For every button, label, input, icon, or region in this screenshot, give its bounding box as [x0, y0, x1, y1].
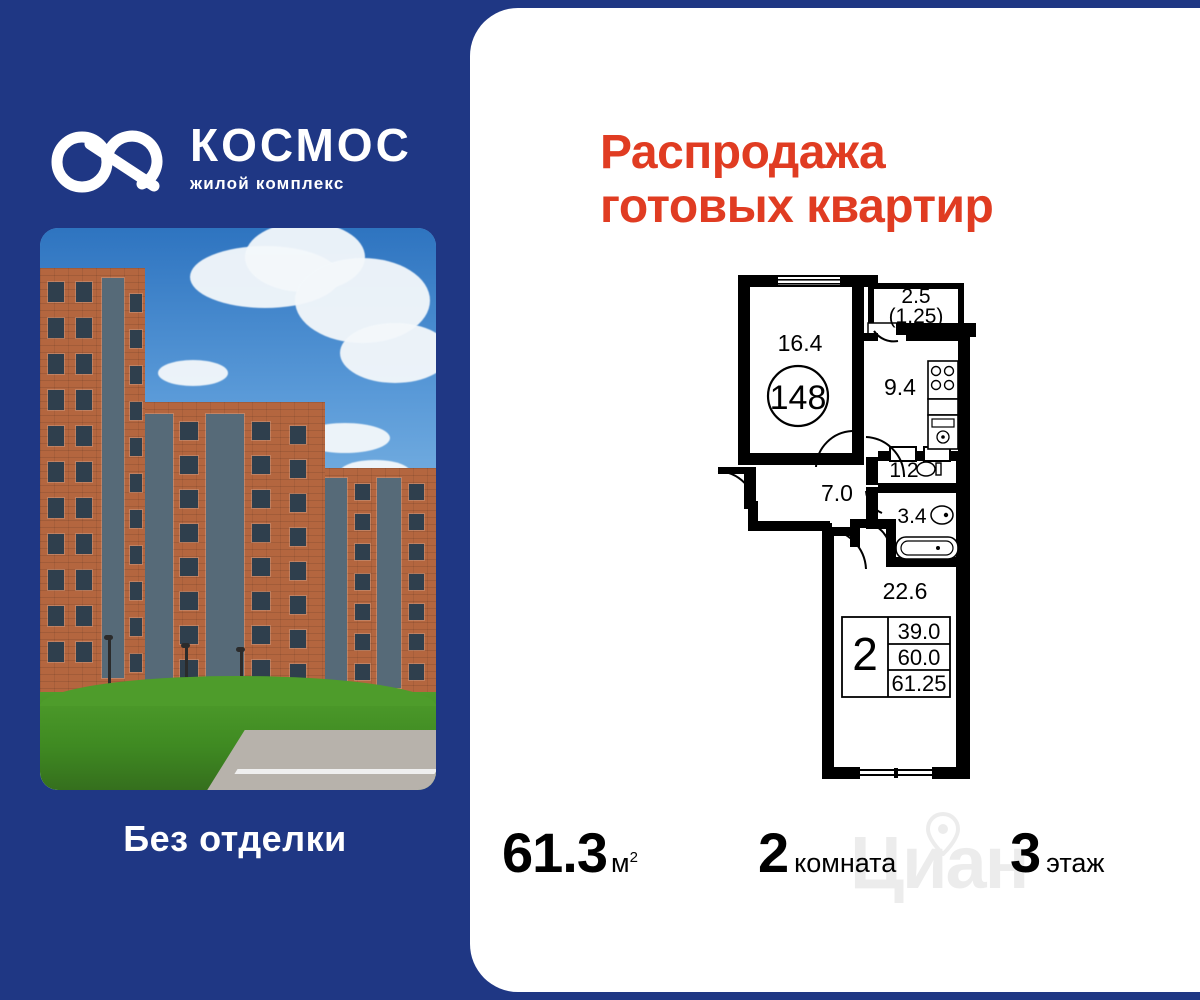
brand-text: КОСМОС жилой комплекс — [190, 122, 412, 192]
washbasin-icon — [931, 506, 953, 524]
lamp-head — [181, 643, 190, 648]
stat-area: 61.3м2 — [502, 820, 638, 885]
stat-rooms: 2комната — [758, 820, 896, 885]
building-photo — [40, 228, 436, 790]
svg-text:60.0: 60.0 — [898, 645, 941, 670]
white-card: Распродажа готовых квартир — [470, 8, 1200, 992]
floor-plan: 148 16.4 9.4 7.0 1.2 3.4 22.6 2.5 (1.25)… — [700, 261, 1000, 801]
svg-text:61.25: 61.25 — [891, 671, 946, 696]
svg-text:(1.25): (1.25) — [889, 305, 944, 328]
brand-lockup: КОСМОС жилой комплекс — [50, 122, 450, 208]
finishing-caption: Без отделки — [0, 818, 470, 860]
toilet-icon — [917, 462, 941, 476]
svg-text:2: 2 — [852, 628, 878, 680]
building-right — [315, 468, 436, 698]
stat-floor-unit: этаж — [1046, 848, 1104, 878]
brand-subtitle: жилой комплекс — [190, 175, 412, 192]
road-marking — [234, 769, 436, 774]
brand-name: КОСМОС — [190, 122, 412, 168]
building-left-tall — [40, 268, 145, 698]
lamp-head — [104, 635, 113, 640]
svg-text:148: 148 — [770, 379, 827, 417]
stat-rooms-unit: комната — [794, 848, 896, 878]
svg-text:9.4: 9.4 — [884, 374, 916, 400]
svg-text:7.0: 7.0 — [821, 480, 853, 506]
sink-icon — [928, 415, 958, 449]
building-middle — [140, 402, 325, 698]
svg-text:39.0: 39.0 — [898, 619, 941, 644]
svg-text:1.2: 1.2 — [889, 459, 918, 482]
cloud — [158, 360, 228, 386]
svg-text:3.4: 3.4 — [897, 505, 927, 528]
stat-area-unit: м2 — [611, 848, 638, 878]
summary-box: 2 39.0 60.0 61.25 — [842, 617, 950, 697]
headline-line-1: Распродажа — [600, 126, 885, 179]
stat-area-value: 61.3 — [502, 821, 607, 884]
page-title: Распродажа готовых квартир — [600, 126, 1160, 234]
promo-card: КОСМОС жилой комплекс — [0, 0, 1200, 1000]
headline-line-2: готовых квартир — [600, 180, 1160, 234]
stat-floor-value: 3 — [1010, 821, 1040, 884]
left-blue-panel: КОСМОС жилой комплекс — [0, 0, 470, 1000]
road — [207, 730, 436, 790]
stove-icon — [928, 361, 958, 399]
infinity-loop-icon — [50, 130, 174, 194]
stat-floor: 3этаж — [1010, 820, 1104, 885]
stats-row: 61.3м2 2комната 3этаж — [470, 820, 1200, 900]
svg-text:16.4: 16.4 — [778, 330, 823, 356]
bathtub-icon — [896, 537, 958, 559]
stat-rooms-value: 2 — [758, 821, 788, 884]
svg-text:22.6: 22.6 — [883, 578, 928, 604]
lamp-head — [236, 647, 245, 652]
